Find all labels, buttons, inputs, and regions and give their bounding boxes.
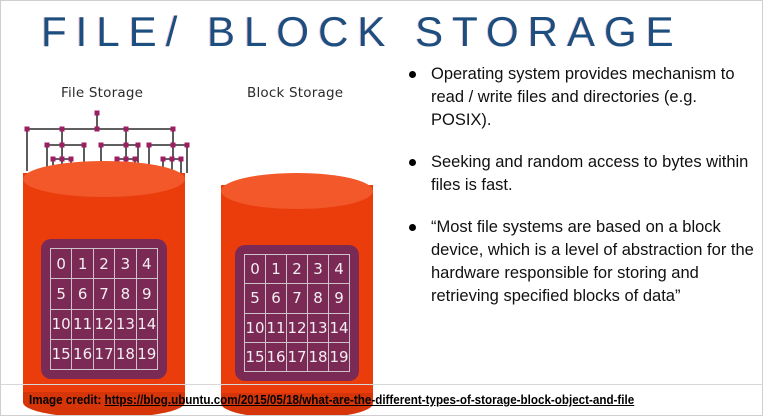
- block-cell: 13: [115, 310, 136, 340]
- credit-divider: [1, 384, 762, 385]
- credit-link[interactable]: https://blog.ubuntu.com/2015/05/18/what-…: [105, 393, 635, 407]
- block-cell: 8: [308, 284, 329, 313]
- block-cell: 3: [115, 249, 136, 279]
- block-cell: 9: [329, 284, 350, 313]
- block-cell: 8: [115, 279, 136, 309]
- block-cell: 14: [137, 310, 158, 340]
- block-cell: 10: [245, 314, 266, 343]
- block-storage-label: Block Storage: [247, 85, 343, 101]
- block-cell: 13: [308, 314, 329, 343]
- bullet-dot-icon: [409, 159, 416, 166]
- block-cell: 5: [51, 279, 72, 309]
- block-cell: 15: [245, 343, 266, 372]
- block-cell: 16: [72, 340, 93, 370]
- block-cell: 4: [329, 255, 350, 284]
- page-title: FILE/ BLOCK STORAGE: [41, 7, 741, 57]
- cylinder-top-ellipse: [23, 161, 185, 197]
- block-cell: 10: [51, 310, 72, 340]
- block-cell: 14: [329, 314, 350, 343]
- block-cell: 19: [137, 340, 158, 370]
- block-cell: 4: [137, 249, 158, 279]
- slide-root: FILE/ BLOCK STORAGE File Storage Block S…: [0, 0, 763, 416]
- block-cell: 18: [308, 343, 329, 372]
- block-cell: 17: [94, 340, 115, 370]
- storage-diagram: File Storage Block Storage: [1, 61, 401, 376]
- block-cell: 18: [115, 340, 136, 370]
- block-cell: 7: [94, 279, 115, 309]
- block-cell: 1: [266, 255, 287, 284]
- block-grid: 012345678910111213141516171819: [244, 254, 350, 372]
- block-cell: 7: [287, 284, 308, 313]
- block-cell: 0: [51, 249, 72, 279]
- block-cell: 6: [72, 279, 93, 309]
- file-storage-cylinder: 012345678910111213141516171819: [23, 161, 185, 416]
- block-cell: 16: [266, 343, 287, 372]
- block-storage-cylinder: 012345678910111213141516171819: [221, 173, 373, 416]
- bullet-dot-icon: [409, 224, 416, 231]
- bullet-item: Seeking and random access to bytes withi…: [405, 151, 757, 197]
- block-cell: 6: [266, 284, 287, 313]
- block-cell: 5: [245, 284, 266, 313]
- block-cell: 11: [72, 310, 93, 340]
- block-cell: 2: [287, 255, 308, 284]
- block-cell: 17: [287, 343, 308, 372]
- bullet-item: Operating system provides mechanism to r…: [405, 63, 757, 132]
- bullet-dot-icon: [409, 71, 416, 78]
- bullet-text: Operating system provides mechanism to r…: [431, 65, 735, 129]
- credit-prefix: Image credit:: [29, 393, 105, 407]
- bullet-text: “Most file systems are based on a block …: [431, 218, 754, 305]
- block-cell: 12: [94, 310, 115, 340]
- block-cell: 15: [51, 340, 72, 370]
- block-cell: 2: [94, 249, 115, 279]
- block-cell: 0: [245, 255, 266, 284]
- credit-line: Image credit: https://blog.ubuntu.com/20…: [29, 393, 634, 407]
- bullet-item: “Most file systems are based on a block …: [405, 216, 757, 308]
- block-cell: 12: [287, 314, 308, 343]
- block-cell: 3: [308, 255, 329, 284]
- block-grid: 012345678910111213141516171819: [50, 248, 158, 370]
- block-cell: 11: [266, 314, 287, 343]
- block-cell: 19: [329, 343, 350, 372]
- bullet-list: Operating system provides mechanism to r…: [405, 63, 757, 327]
- bullet-text: Seeking and random access to bytes withi…: [431, 153, 748, 194]
- block-storage-block-panel: 012345678910111213141516171819: [235, 245, 359, 381]
- block-cell: 1: [72, 249, 93, 279]
- file-storage-block-panel: 012345678910111213141516171819: [41, 239, 167, 379]
- block-cell: 9: [137, 279, 158, 309]
- file-storage-label: File Storage: [61, 85, 143, 101]
- cylinder-top-ellipse: [221, 173, 373, 209]
